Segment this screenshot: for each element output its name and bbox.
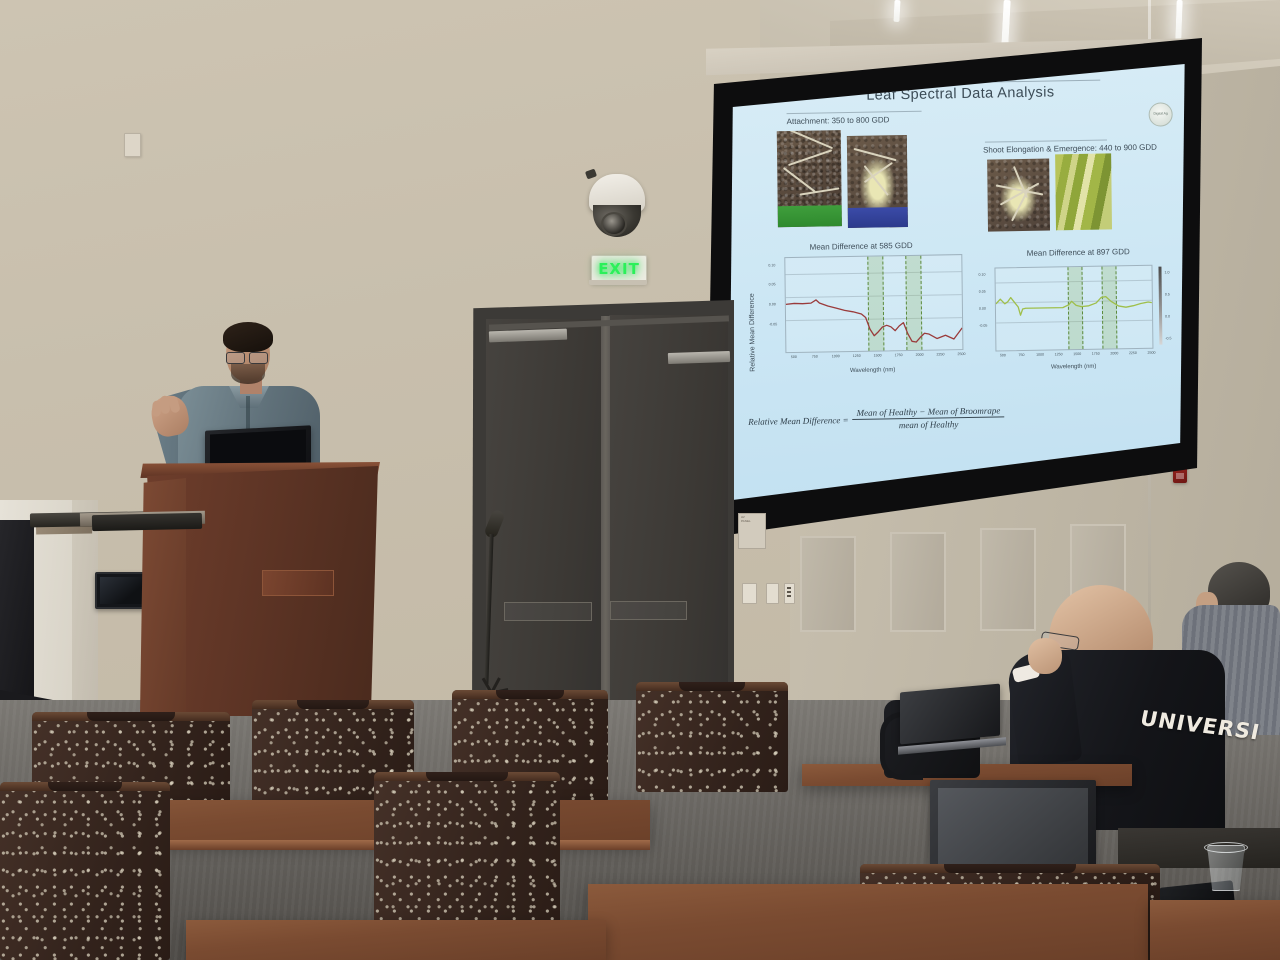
table-row-front — [588, 884, 1148, 960]
emergence-leaf-photo — [1055, 153, 1112, 230]
chart-585-plot-area — [784, 254, 963, 353]
chart-585-line — [785, 255, 962, 352]
attendee-front-hand — [1028, 638, 1062, 674]
chart-585-xlabel: Wavelength (nm) — [778, 366, 968, 375]
colorbar-tick-label: -0.5 — [1165, 336, 1171, 340]
x-tick-label: 1500 — [874, 353, 882, 357]
acoustic-wall-panel — [890, 532, 946, 632]
y-tick-label: -0.05 — [979, 324, 987, 328]
caption-divider — [985, 139, 1107, 142]
acoustic-wall-panel — [980, 528, 1036, 631]
light-switch[interactable] — [766, 583, 779, 604]
left-wall-column-shadow — [72, 500, 98, 730]
y-tick-label: 0.10 — [768, 263, 775, 267]
exit-sign-label: EXIT — [598, 260, 640, 278]
x-tick-label: 500 — [1000, 353, 1006, 357]
y-tick-label: 0.00 — [979, 307, 986, 311]
x-tick-label: 1250 — [1055, 352, 1063, 356]
x-tick-label: 1750 — [895, 353, 903, 357]
conference-room-scene: EXIT Leaf Spectral Data Analysis Digital… — [0, 0, 1280, 960]
av-wall-plate[interactable]: AVPANEL — [738, 513, 766, 549]
colorbar-tick-label: 0.5 — [1165, 292, 1170, 296]
x-tick-label: 750 — [1018, 353, 1024, 357]
root-attachment-photo — [777, 130, 842, 227]
colorbar-tick-label: 1.0 — [1165, 270, 1170, 274]
chart-897-xlabel: Wavelength (nm) — [988, 363, 1160, 372]
x-tick-label: 2000 — [1110, 351, 1118, 355]
door-center-mullion — [601, 316, 610, 712]
x-tick-label: 1000 — [1036, 353, 1044, 357]
presenter-glasses-icon — [226, 352, 268, 362]
relative-mean-difference-formula: Relative Mean Difference = Mean of Healt… — [748, 405, 1004, 432]
wall-mounted-touch-panel[interactable] — [95, 572, 148, 609]
panel-caption-attachment: Attachment: 350 to 800 GDD — [787, 115, 890, 126]
x-tick-label: 1250 — [853, 354, 861, 358]
presenter-hair — [223, 322, 273, 352]
table-row-front-right — [1150, 900, 1280, 960]
x-tick-label: 1000 — [832, 354, 840, 358]
x-tick-label: 750 — [812, 355, 818, 359]
table-row-front-left — [186, 920, 606, 960]
blue-annotation-bar — [848, 207, 908, 228]
laptop-closed-on-table[interactable] — [900, 684, 1000, 745]
x-tick-label: 2000 — [916, 353, 924, 357]
door-kick-plate — [504, 602, 592, 621]
chair-row-front-1[interactable] — [0, 782, 170, 960]
ceiling-light-strip — [893, 0, 900, 22]
y-tick-label: 0.00 — [769, 302, 776, 306]
projection-screen-assembly: Leaf Spectral Data Analysis Digital Ag A… — [706, 38, 1202, 548]
chart-585-title: Mean Difference at 585 GDD — [754, 240, 968, 253]
formula-fraction: Mean of Healthy − Mean of Broomrape mean… — [853, 405, 1005, 431]
y-tick-label: 0.05 — [769, 283, 776, 287]
x-tick-label: 2500 — [1147, 351, 1155, 355]
y-tick-label: 0.05 — [979, 290, 986, 294]
shoot-elongation-photo — [987, 159, 1050, 232]
chart-897-gdd: Mean Difference at 897 GDD 1.00.50.0-0.5… — [980, 246, 1178, 389]
digital-ag-logo-icon: Digital Ag — [1149, 102, 1173, 126]
wall-access-plate — [124, 133, 141, 157]
door-closer-arm — [668, 351, 730, 364]
exit-sign-base — [589, 280, 647, 285]
camera-lens-icon — [601, 212, 627, 236]
door-kick-plate — [610, 601, 687, 620]
presenter-beard — [231, 364, 265, 384]
chart-897-colorbar — [1158, 267, 1162, 345]
y-tick-label: 0.10 — [979, 272, 986, 276]
x-tick-label: 2250 — [937, 352, 945, 356]
broomrape-attachment-photo — [847, 135, 908, 228]
caption-divider — [787, 111, 922, 114]
chart-585-gdd: Mean Difference at 585 GDD Relative Mean… — [754, 240, 970, 384]
lectern-front-panel — [262, 570, 334, 596]
y-tick-label: -0.05 — [769, 322, 777, 326]
chart-897-title: Mean Difference at 897 GDD — [980, 246, 1176, 258]
light-switch[interactable] — [742, 583, 757, 604]
colorbar-tick-label: 0.0 — [1165, 314, 1170, 318]
x-tick-label: 2500 — [957, 352, 965, 356]
chart-897-plot-area — [994, 265, 1153, 352]
x-tick-label: 1750 — [1092, 352, 1100, 356]
formula-denominator: mean of Healthy — [899, 418, 959, 430]
formula-lead: Relative Mean Difference = — [748, 415, 849, 427]
chair-row-mid-4[interactable] — [636, 682, 788, 792]
chart-897-line — [995, 266, 1152, 351]
x-tick-label: 1500 — [1073, 352, 1081, 356]
x-tick-label: 2250 — [1129, 351, 1137, 355]
green-annotation-bar — [778, 205, 842, 227]
slide-content: Leaf Spectral Data Analysis Digital Ag A… — [734, 60, 1191, 466]
panel-caption-shoot: Shoot Elongation & Emergence: 440 to 900… — [983, 143, 1157, 155]
door-right[interactable] — [609, 315, 728, 711]
acoustic-wall-panel — [800, 536, 856, 632]
table-row-right-dark — [1118, 828, 1280, 868]
exit-sign: EXIT — [591, 255, 647, 283]
chart-585-ylabel: Relative Mean Difference — [749, 293, 757, 372]
x-tick-label: 500 — [791, 355, 797, 359]
lectern-keyboard[interactable] — [92, 513, 202, 531]
dimmer-switch[interactable] — [784, 583, 795, 604]
plastic-cup-rim — [1204, 842, 1248, 853]
